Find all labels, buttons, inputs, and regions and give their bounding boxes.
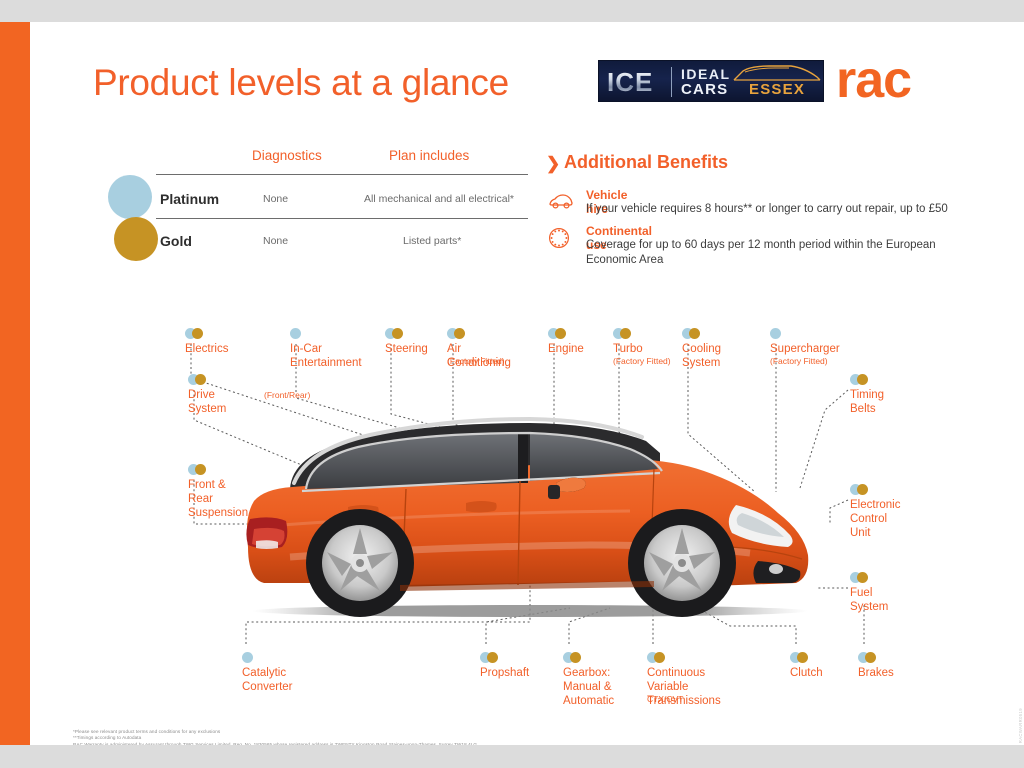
callout-marker-dots	[480, 652, 502, 663]
gold-dot-icon	[857, 484, 868, 495]
callout-marker-dots	[613, 328, 635, 339]
footer-line-3: RAC Warranty is administered by Assurant…	[73, 742, 479, 745]
gold-dot-icon	[857, 374, 868, 385]
callout-marker-dots	[188, 374, 210, 385]
chevron-right-icon: ❯	[546, 154, 560, 174]
callout-label: Front & Rear Suspension	[188, 478, 248, 520]
callout-label: Electrics	[185, 342, 228, 356]
vehicle-component-diagram: ElectricsIn-Car EntertainmentSteeringAir…	[30, 292, 1024, 722]
additional-benefits-heading: Additional Benefits	[564, 152, 728, 173]
callout-marker-dots	[188, 464, 210, 475]
callout-marker-dots	[790, 652, 812, 663]
column-header-diagnostics: Diagnostics	[252, 148, 322, 163]
column-header-plan-includes: Plan includes	[389, 148, 469, 163]
ice-wordmark: ICE	[607, 67, 653, 98]
gold-dot-icon	[689, 328, 700, 339]
callout-sublabel: (Factory Fitted)	[770, 356, 828, 366]
callout-label: In-Car Entertainment	[290, 342, 362, 370]
callout-marker-dots	[850, 572, 872, 583]
callout-sublabel: CTX/CVT	[647, 694, 683, 704]
rac-logo: rac	[836, 54, 911, 106]
ice-ideal-text: IDEAL	[681, 66, 731, 82]
callout-marker-dots	[858, 652, 880, 663]
gold-dot-icon	[392, 328, 403, 339]
platinum-dot-icon	[242, 652, 253, 663]
callout-marker-dots	[770, 328, 792, 339]
car-icon	[548, 191, 574, 211]
gold-dot-icon	[195, 374, 206, 385]
callout-label: Clutch	[790, 666, 823, 680]
callout-label: Engine	[548, 342, 584, 356]
gold-swatch	[114, 217, 158, 261]
callout-label: Catalytic Converter	[242, 666, 293, 694]
table-rule-middle	[156, 218, 528, 219]
callout-sublabel: (Factory Fitted)	[613, 356, 671, 366]
car-outline-icon	[731, 63, 823, 85]
callout-marker-dots	[548, 328, 570, 339]
logo-divider	[671, 67, 672, 97]
callout-label: Cooling System	[682, 342, 721, 370]
poster-page: Product levels at a glance ICE IDEAL CAR…	[0, 22, 1024, 745]
callout-marker-dots	[385, 328, 407, 339]
gold-dot-icon	[797, 652, 808, 663]
gold-dot-icon	[620, 328, 631, 339]
callout-marker-dots	[447, 328, 469, 339]
gold-dot-icon	[865, 652, 876, 663]
ice-ideal-cars-essex-logo: ICE IDEAL CARS ESSEX	[598, 60, 824, 102]
gold-dot-icon	[487, 652, 498, 663]
callout-label: Electronic Control Unit	[850, 498, 901, 540]
callout-marker-dots	[242, 652, 264, 663]
platinum-swatch	[108, 175, 152, 219]
callout-label: Fuel System	[850, 586, 888, 614]
cell-gold-plan-includes: Listed parts*	[403, 235, 461, 247]
callout-label: Brakes	[858, 666, 894, 680]
callout-label: Steering	[385, 342, 428, 356]
callout-label: Turbo	[613, 342, 643, 356]
gold-dot-icon	[570, 652, 581, 663]
tier-label-gold: Gold	[160, 233, 192, 249]
callout-marker-dots	[647, 652, 669, 663]
left-orange-bar	[0, 22, 30, 745]
vehicle-illustration	[230, 397, 830, 637]
callout-marker-dots	[290, 328, 312, 339]
cell-platinum-plan-includes: All mechanical and all electrical*	[364, 193, 514, 205]
cell-gold-diagnostics: None	[263, 235, 288, 247]
gold-dot-icon	[192, 328, 203, 339]
page-title: Product levels at a glance	[93, 62, 509, 104]
benefit-body-vehicle-hire: If your vehicle requires 8 hours** or lo…	[586, 202, 986, 217]
callout-label: Supercharger	[770, 342, 840, 356]
callout-marker-dots	[850, 374, 872, 385]
gold-dot-icon	[654, 652, 665, 663]
callout-sublabel: (Front/Rear)	[264, 390, 310, 400]
callout-marker-dots	[563, 652, 585, 663]
callout-marker-dots	[682, 328, 704, 339]
platinum-dot-icon	[290, 328, 301, 339]
callout-label: Timing Belts	[850, 388, 884, 416]
tier-label-platinum: Platinum	[160, 191, 219, 207]
callout-marker-dots	[185, 328, 207, 339]
table-rule-top	[156, 174, 528, 175]
callout-sublabel: (Factory Fitted)	[447, 356, 505, 366]
poster-canvas: Product levels at a glance ICE IDEAL CAR…	[30, 22, 1024, 745]
callout-marker-dots	[850, 484, 872, 495]
callout-label: Drive System	[188, 388, 226, 416]
cell-platinum-diagnostics: None	[263, 193, 288, 205]
platinum-dot-icon	[770, 328, 781, 339]
callout-label: Propshaft	[480, 666, 529, 680]
gold-dot-icon	[195, 464, 206, 475]
document-code: RACWARR0519	[1018, 708, 1023, 743]
footer-disclaimer: *Please see relevant product terms and c…	[73, 729, 479, 745]
ice-cars-text: CARS	[681, 81, 728, 98]
gold-dot-icon	[857, 572, 868, 583]
gold-dot-icon	[454, 328, 465, 339]
europe-stars-icon	[548, 227, 574, 247]
benefit-body-continental-use: Coverage for up to 60 days per 12 month …	[586, 238, 986, 268]
gold-dot-icon	[555, 328, 566, 339]
callout-label: Gearbox: Manual & Automatic	[563, 666, 614, 708]
